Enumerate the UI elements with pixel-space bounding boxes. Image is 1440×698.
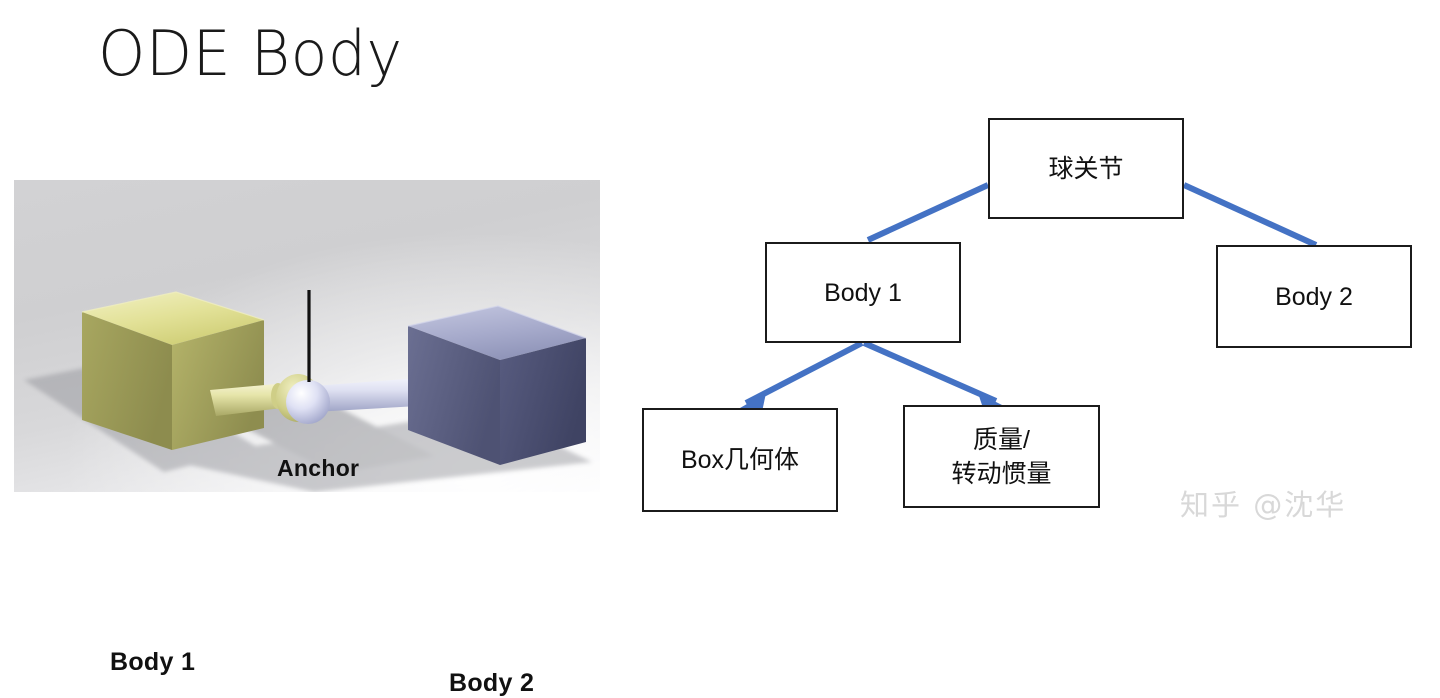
edge-joint-to-body1 (868, 185, 988, 240)
anchor-ball-joint (286, 380, 330, 424)
illustration-label-anchor: Anchor (277, 455, 359, 482)
illustration-label-body2: Body 2 (449, 669, 534, 698)
body1-box (82, 292, 264, 450)
page-title: ODE Body (98, 16, 403, 92)
illustration-label-body1: Body 1 (110, 648, 195, 677)
anchor-rod-blue (314, 377, 424, 412)
diagram-node-box-geometry[interactable]: Box几何体 (642, 408, 838, 512)
edge-body1-to-geom (746, 343, 862, 403)
ode-body-scene (14, 180, 600, 492)
edge-joint-to-body2 (1184, 185, 1316, 245)
edge-body1-to-mass (864, 343, 996, 401)
diagram-node-mass-inertia[interactable]: 质量/ 转动惯量 (903, 405, 1100, 508)
ode-body-illustration: Anchor Body 1 Body 2 (14, 180, 600, 492)
diagram-node-body2[interactable]: Body 2 (1216, 245, 1412, 348)
watermark: 知乎 @沈华 (1180, 487, 1346, 523)
ode-body-hierarchy-diagram: 球关节 Body 1 Body 2 Box几何体 质量/ 转动惯量 (600, 90, 1440, 540)
diagram-node-body1[interactable]: Body 1 (765, 242, 961, 343)
diagram-node-ball-joint[interactable]: 球关节 (988, 118, 1184, 219)
